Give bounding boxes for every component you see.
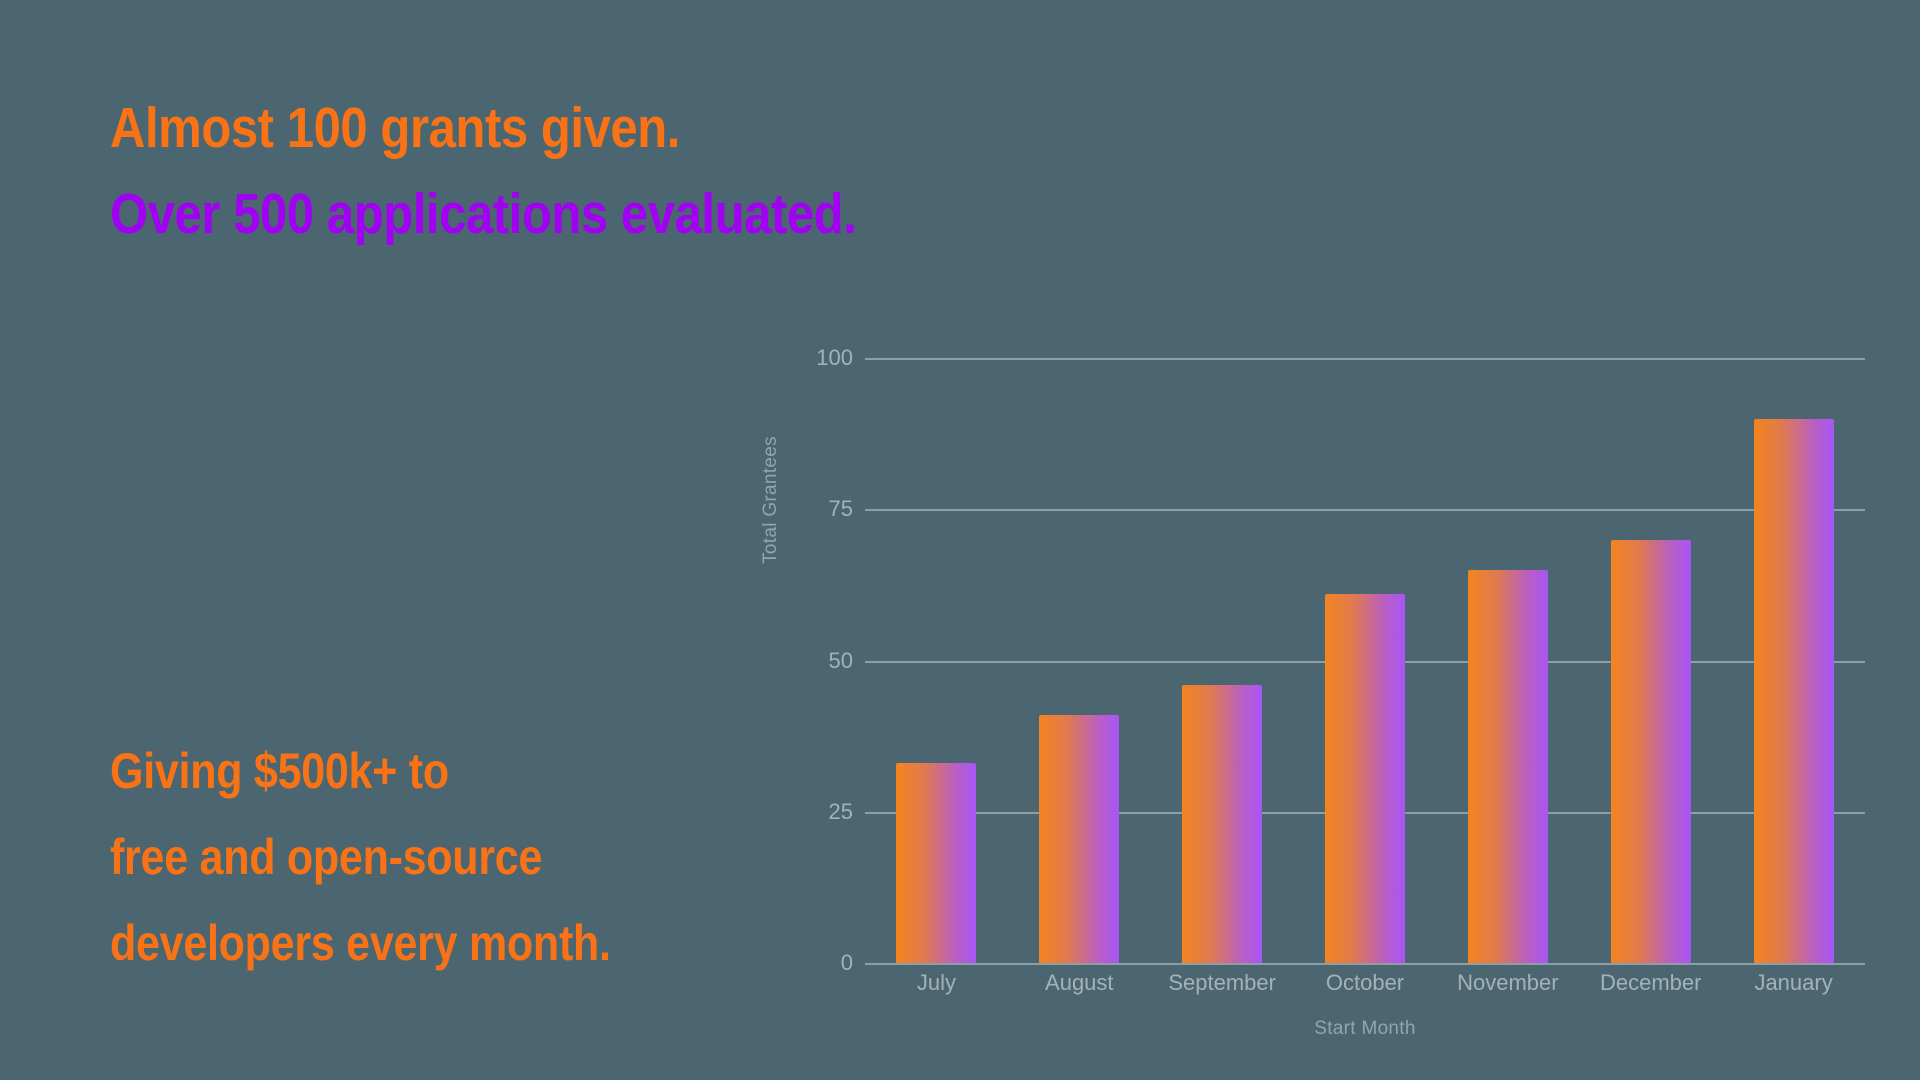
y-tick-label-100: 100 [783, 345, 853, 371]
y-tick-label-0: 0 [783, 950, 853, 976]
x-tick-label-september: September [1168, 970, 1276, 996]
x-tick-label-july: July [917, 970, 956, 996]
statement-line-2: free and open-source [110, 814, 611, 900]
bar-slot: January [1722, 358, 1865, 963]
bar-september[interactable] [1182, 685, 1262, 963]
headline-block: Almost 100 grants given. Over 500 applic… [110, 85, 978, 257]
x-tick-label-january: January [1754, 970, 1832, 996]
headline-line-1: Almost 100 grants given. [110, 85, 856, 171]
bar-january[interactable] [1754, 419, 1834, 964]
bar-series: JulyAugustSeptemberOctoberNovemberDecemb… [865, 358, 1865, 963]
y-axis-title: Total Grantees [760, 380, 782, 620]
bar-slot: December [1579, 358, 1722, 963]
x-tick-label-november: November [1457, 970, 1558, 996]
bar-december[interactable] [1611, 540, 1691, 964]
statement-line-3: developers every month. [110, 900, 611, 986]
y-tick-label-50: 50 [783, 648, 853, 674]
bar-october[interactable] [1325, 594, 1405, 963]
y-tick-label-25: 25 [783, 799, 853, 825]
bar-slot: September [1151, 358, 1294, 963]
x-tick-label-december: December [1600, 970, 1701, 996]
bar-august[interactable] [1039, 715, 1119, 963]
bar-slot: October [1294, 358, 1437, 963]
headline-line-2: Over 500 applications evaluated. [110, 171, 856, 257]
x-axis-title: Start Month [865, 1018, 1865, 1040]
x-tick-label-august: August [1045, 970, 1114, 996]
y-tick-label-75: 75 [783, 496, 853, 522]
gridline-0 [865, 963, 1865, 965]
statement-line-1: Giving $500k+ to [110, 728, 611, 814]
bar-july[interactable] [896, 763, 976, 963]
bar-slot: November [1436, 358, 1579, 963]
statement-block: Giving $500k+ to free and open-source de… [110, 728, 692, 986]
slide-root: Almost 100 grants given. Over 500 applic… [0, 0, 1920, 1080]
plot-area: 0255075100 JulyAugustSeptemberOctoberNov… [865, 358, 1865, 963]
bar-slot: August [1008, 358, 1151, 963]
bar-chart: Total Grantees 0255075100 JulyAugustSept… [790, 330, 1870, 1030]
bar-slot: July [865, 358, 1008, 963]
bar-november[interactable] [1468, 570, 1548, 963]
x-tick-label-october: October [1326, 970, 1404, 996]
